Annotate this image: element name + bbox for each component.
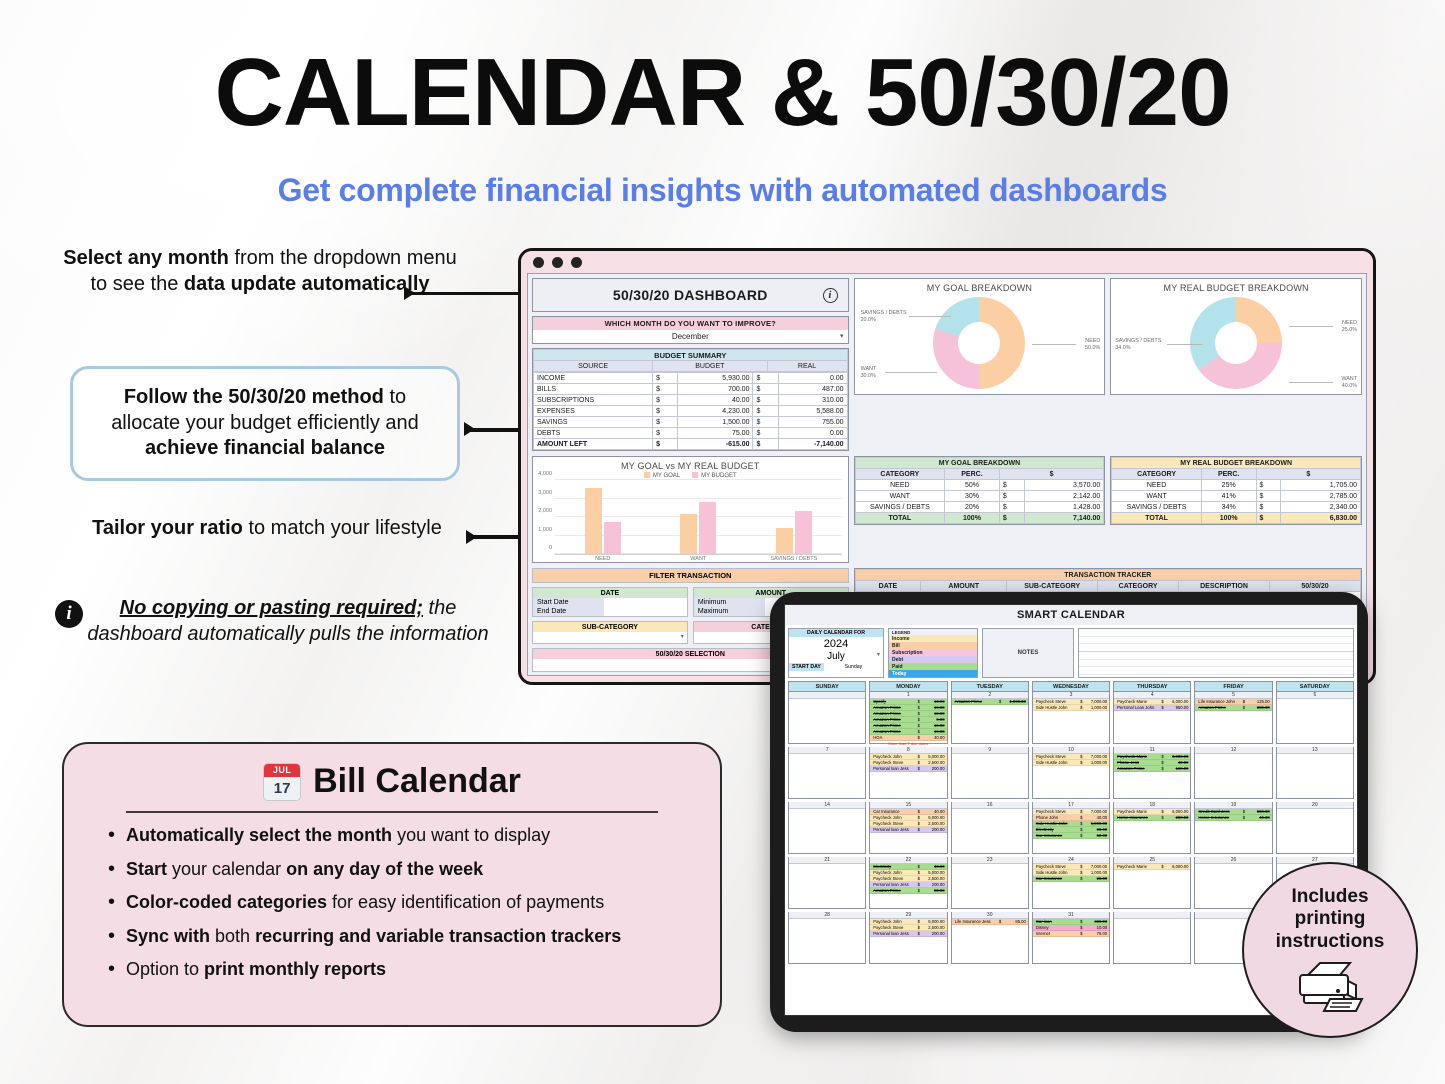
printing-instructions-badge: Includes printing instructions [1242, 862, 1418, 1038]
day-number: 6 [1277, 692, 1353, 699]
comparison-bar-chart-panel: MY GOAL vs MY REAL BUDGET MY GOAL MY BUD… [532, 456, 849, 563]
table-total-row: TOTAL100%$7,140.00 [855, 513, 1104, 524]
day-number: 10 [1033, 747, 1109, 754]
calendar-day-cell[interactable]: 2Amazon Prime$1,000.00 [951, 692, 1029, 744]
calendar-day-cell[interactable]: 15Car Insurance$40.00Paycheck John$5,000… [869, 802, 947, 854]
goal-donut-chart: SAVINGS / DEBTS 20.0% NEED 50.0% WANT 30… [855, 294, 1105, 394]
calendar-day-cell[interactable]: 22Electricity$40.00Paycheck John$5,000.0… [869, 857, 947, 909]
bar [699, 502, 716, 554]
real-label-savings-pct: 34.0% [1115, 345, 1161, 352]
list-item: Automatically select the month you want … [108, 825, 694, 847]
calendar-controls-strip: DAILY CALENDAR FOR 2024 July▾ START DAY … [788, 628, 1354, 678]
legend-item: Debt [889, 656, 977, 663]
calendar-day-cell[interactable]: 17Paycheck Steve$7,000.00Phone John$40.0… [1032, 802, 1110, 854]
day-number: 4 [1114, 692, 1190, 699]
callout-3-text: to match your lifestyle [243, 517, 442, 539]
day-header: MONDAY [869, 681, 947, 692]
bar-chart-title: MY GOAL vs MY REAL BUDGET [533, 457, 848, 472]
day-number: 18 [1114, 802, 1190, 809]
list-item: Start your calendar on any day of the we… [108, 859, 694, 881]
day-number: 31 [1033, 912, 1109, 919]
table-row: INCOME$5,930.00$0.00 [534, 373, 848, 384]
table-row: BILLS$700.00$487.00 [534, 384, 848, 395]
calendar-event[interactable]: Amazon Prime$1,000.00 [952, 699, 1028, 705]
day-number: 26 [1195, 857, 1271, 864]
day-header: WEDNESDAY [1032, 681, 1110, 692]
legend-item: Today [889, 670, 977, 677]
calendar-day-cell[interactable]: 10Paycheck Steve$7,000.00Side Hustle Joh… [1032, 747, 1110, 799]
leader-line-need [1032, 344, 1076, 345]
day-number: 12 [1195, 747, 1271, 754]
info-icon-dashboard[interactable]: i [823, 288, 838, 303]
start-day-value[interactable]: Sunday [824, 663, 883, 671]
leader-line-real-need [1289, 326, 1333, 327]
x-axis-label: WANT [661, 556, 736, 562]
table-row: SUBSCRIPTIONS$40.00$310.00 [534, 395, 848, 406]
day-number: 20 [1277, 802, 1353, 809]
filter-start-date-label: Start Date [533, 598, 604, 607]
callout-3-bold: Tailor your ratio [92, 517, 243, 539]
calendar-day-cell[interactable]: 23 [951, 857, 1029, 909]
table-row: WANT41%$2,785.00 [1112, 491, 1361, 502]
bill-calendar-bullets: Automatically select the month you want … [90, 825, 694, 981]
list-item: Option to print monthly reports [108, 959, 694, 981]
badge-line-1: Includes [1291, 886, 1368, 908]
notes-box[interactable]: NOTES [982, 628, 1074, 678]
filter-end-date-label: End Date [533, 607, 604, 616]
goal-donut [933, 297, 1025, 389]
callout-2-bold-a: Follow the 50/30/20 method [124, 386, 384, 408]
y-axis-tick: 3,000 [538, 490, 552, 496]
real-donut-chart: NEED 25.0% SAVINGS / DEBTS 34.0% WANT 40… [1111, 294, 1361, 394]
calendar-day-cell[interactable]: 29Paycheck John$5,000.00Paycheck Steve$2… [869, 912, 947, 964]
calendar-icon-day: 17 [264, 777, 300, 800]
budget-summary-panel: BUDGET SUMMARY SOURCEBUDGETREAL INCOME$5… [532, 348, 849, 451]
budget-summary-body: INCOME$5,930.00$0.00BILLS$700.00$487.00S… [533, 372, 848, 450]
calendar-event[interactable]: Life Insurance Jess$85.00 [952, 919, 1028, 925]
goal-label-need-pct: 50.0% [1085, 345, 1100, 352]
table-row: WANT30%$2,142.00 [855, 491, 1104, 502]
calendar-column: MONDAY1Spotify$10.00Amazon Prime$19.00Am… [869, 681, 947, 967]
calendar-day-cell[interactable]: 31Car loan$400.00Disney$10.00Internet$75… [1032, 912, 1110, 964]
month-value: December [672, 332, 709, 341]
goal-label-savings-pct: 20.0% [861, 317, 907, 324]
calendar-event[interactable]: Side Hustle John$1,000.00 [1033, 705, 1109, 711]
bar-chart-x-labels: NEEDWANTSAVINGS / DEBTS [555, 556, 842, 562]
table-row: NEED25%$1,705.00 [1112, 480, 1361, 491]
daily-calendar-selector[interactable]: DAILY CALENDAR FOR 2024 July▾ START DAY … [788, 628, 884, 678]
day-number: 14 [789, 802, 865, 809]
goal-label-need-text: NEED [1085, 338, 1100, 344]
window-titlebar [521, 251, 1373, 273]
day-number: 9 [952, 747, 1028, 754]
goal-label-want-text: WANT [861, 366, 877, 372]
calendar-column: THURSDAY4Paycheck Marie$6,000.00Personal… [1113, 681, 1191, 967]
start-day-label: START DAY [789, 663, 824, 671]
table-row: AMOUNT LEFT$-615.00$-7,140.00 [534, 439, 848, 450]
calendar-day-cell[interactable]: 9 [951, 747, 1029, 799]
table-row: SAVINGS / DEBTS20%$1,428.00 [855, 502, 1104, 513]
real-donut-panel: MY REAL BUDGET BREAKDOWN NEED 25.0% SAVI… [1110, 278, 1362, 395]
day-number: 28 [789, 912, 865, 919]
calendar-event[interactable]: Car Insurance$25.00 [1033, 876, 1109, 882]
budget-summary-table: BUDGET SUMMARY SOURCEBUDGETREAL [533, 349, 848, 372]
chevron-down-icon-month[interactable]: ▾ [877, 651, 880, 658]
goal-label-savings-text: SAVINGS / DEBTS [861, 310, 907, 316]
bar [604, 522, 621, 554]
calendar-event[interactable]: Amazon Prime$280.00 [1195, 705, 1271, 711]
calendar-day-cell[interactable]: 21 [788, 857, 866, 909]
day-number: 1 [870, 692, 946, 699]
legend-item: Bill [889, 642, 977, 649]
real-label-want-pct: 40.0% [1341, 383, 1357, 390]
day-number: 2 [952, 692, 1028, 699]
real-label-want: WANT 40.0% [1341, 376, 1357, 391]
goal-breakdown-table: MY GOAL BREAKDOWNCATEGORYPERC.$NEED50%$3… [855, 457, 1105, 524]
bar-chart-plot: 01,0002,0003,0004,000 [555, 481, 842, 555]
filter-date-label: DATE [533, 588, 687, 598]
legend-item-budget: MY BUDGET [692, 472, 737, 479]
day-header: FRIDAY [1194, 681, 1272, 692]
table-row: DEBTS$75.00$0.00 [534, 428, 848, 439]
real-breakdown-table: MY REAL BUDGET BREAKDOWNCATEGORYPERC.$NE… [1111, 457, 1361, 524]
callout-no-copy-paste: No copying or pasting required; the dash… [78, 596, 498, 647]
badge-line-3: instructions [1276, 931, 1385, 953]
calendar-icon: JUL 17 [263, 763, 301, 801]
table-row: NEED50%$3,570.00 [855, 480, 1104, 491]
chevron-down-icon[interactable]: ▾ [840, 332, 844, 340]
day-number: 3 [1033, 692, 1109, 699]
goal-donut-panel: MY GOAL BREAKDOWN SAVINGS / DEBTS 20.0% … [854, 278, 1106, 395]
calendar-day-cell[interactable]: 12 [1194, 747, 1272, 799]
calendar-day-cell[interactable]: 3Paycheck Steve$7,000.00Side Hustle John… [1032, 692, 1110, 744]
day-number [789, 692, 865, 699]
bar-group [661, 502, 736, 554]
page-title: CALENDAR & 50/30/20 [0, 38, 1445, 148]
calendar-event[interactable]: Internet$75.00 [1033, 931, 1109, 937]
calendar-icon-month: JUL [264, 764, 300, 777]
calendar-day-cell[interactable]: 30Life Insurance Jess$85.00 [951, 912, 1029, 964]
day-number: 11 [1114, 747, 1190, 754]
month-dropdown[interactable]: December ▾ [533, 330, 848, 343]
day-header: THURSDAY [1113, 681, 1191, 692]
real-label-need-text: NEED [1342, 320, 1357, 326]
calendar-column: TUESDAY2Amazon Prime$1,000.009162330Life… [951, 681, 1029, 967]
real-label-savings-text: SAVINGS / DEBTS [1115, 338, 1161, 344]
day-number: 17 [1033, 802, 1109, 809]
start-day-row[interactable]: START DAY Sunday [789, 663, 883, 671]
real-label-want-text: WANT [1341, 376, 1357, 382]
day-number: 7 [789, 747, 865, 754]
calendar-event[interactable]: Home Insurance$280.00 [1114, 815, 1190, 821]
budget-summary-title: BUDGET SUMMARY [534, 350, 848, 361]
day-number: 25 [1114, 857, 1190, 864]
filter-transaction-title: FILTER TRANSACTION [532, 568, 849, 583]
dashboard-title: 50/30/20 DASHBOARD i [532, 278, 849, 312]
day-number: 15 [870, 802, 946, 809]
notes-lines[interactable] [1078, 628, 1354, 678]
bar [795, 511, 812, 554]
bar-group [566, 488, 641, 554]
bill-calendar-card: JUL 17 Bill Calendar Automatically selec… [62, 742, 722, 1027]
calendar-day-cell[interactable]: 14 [788, 802, 866, 854]
day-number: 24 [1033, 857, 1109, 864]
gridline [555, 479, 842, 480]
calendar-day-cell[interactable] [1113, 912, 1191, 964]
legend-item: Paid [889, 663, 977, 670]
real-label-need: NEED 25.0% [1342, 320, 1357, 335]
year-value[interactable]: 2024 [789, 637, 883, 651]
calendar-day-cell[interactable] [788, 692, 866, 744]
bar-groups [555, 481, 842, 554]
table-row: SAVINGS$1,500.00$755.00 [534, 417, 848, 428]
calendar-event[interactable]: Personal loan Jess$200.00 [870, 931, 946, 937]
day-number: 16 [952, 802, 1028, 809]
day-number: 19 [1195, 802, 1271, 809]
calendar-day-cell[interactable]: 7 [788, 747, 866, 799]
calendar-day-cell[interactable]: 4Paycheck Marie$6,000.00Personal Loan Jo… [1113, 692, 1191, 744]
bar [776, 528, 793, 554]
divider [126, 811, 658, 813]
list-item: Sync with both recurring and variable tr… [108, 926, 694, 948]
arrow-1-head [404, 286, 415, 300]
filter-end-date-row[interactable]: End Date [533, 607, 687, 616]
day-number: 21 [789, 857, 865, 864]
y-axis-tick: 4,000 [538, 471, 552, 477]
goal-label-need: NEED 50.0% [1085, 338, 1100, 353]
calendar-day-cell[interactable]: 19Credit Card Jess$550.00Home Insurance$… [1194, 802, 1272, 854]
real-label-need-pct: 25.0% [1342, 327, 1357, 334]
window-minimize-dot[interactable] [552, 257, 563, 268]
filter-max-label: Maximum [694, 607, 765, 616]
day-number: 5 [1195, 692, 1271, 699]
filter-start-date-row[interactable]: Start Date [533, 598, 687, 607]
table-total-row: TOTAL100%$6,830.00 [1112, 513, 1361, 524]
real-label-savings: SAVINGS / DEBTS 34.0% [1115, 338, 1161, 353]
bill-calendar-header: JUL 17 Bill Calendar [90, 762, 694, 801]
daily-calendar-for-label: DAILY CALENDAR FOR [789, 629, 883, 637]
window-maximize-dot[interactable] [571, 257, 582, 268]
y-axis-tick: 1,000 [538, 527, 552, 533]
page-subtitle: Get complete financial insights with aut… [0, 172, 1445, 209]
legend-item: Subscription [889, 649, 977, 656]
x-axis-label: NEED [566, 556, 641, 562]
list-item: Color-coded categories for easy identifi… [108, 892, 694, 914]
day-number [1114, 912, 1190, 919]
callout-503020-method: Follow the 50/30/20 method to allocate y… [70, 366, 460, 481]
y-axis-tick: 2,000 [538, 508, 552, 514]
calendar-day-cell[interactable]: 28 [788, 912, 866, 964]
bar-chart-legend: MY GOAL MY BUDGET [533, 472, 848, 479]
y-axis-tick: 0 [549, 545, 552, 551]
calendar-day-cell[interactable]: 20 [1276, 802, 1354, 854]
bar [585, 488, 602, 554]
goal-breakdown-table-panel: MY GOAL BREAKDOWNCATEGORYPERC.$NEED50%$3… [854, 456, 1106, 525]
bill-calendar-title: Bill Calendar [313, 762, 521, 801]
calendar-event[interactable]: Car Insurance$50.00 [1033, 833, 1109, 839]
leader-line-real-want [1289, 382, 1333, 383]
calendar-event[interactable]: Side Hustle John$1,000.00 [1033, 760, 1109, 766]
day-header: TUESDAY [951, 681, 1029, 692]
goal-donut-title: MY GOAL BREAKDOWN [855, 279, 1105, 294]
bar [680, 514, 697, 554]
calendar-column: WEDNESDAY3Paycheck Steve$7,000.00Side Hu… [1032, 681, 1110, 967]
calendar-day-cell[interactable]: 16 [951, 802, 1029, 854]
month-selector[interactable]: WHICH MONTH DO YOU WANT TO IMPROVE? Dece… [532, 316, 849, 344]
callout-1-bold-a: Select any month [63, 247, 229, 269]
table-row: EXPENSES$4,230.00$5,588.00 [534, 406, 848, 417]
calendar-day-cell[interactable]: 1Spotify$10.00Amazon Prime$19.00Amazon P… [869, 692, 947, 744]
callout-1-bold-b: data update automatically [184, 273, 430, 295]
calendar-day-cell[interactable]: 6 [1276, 692, 1354, 744]
calendar-day-cell[interactable]: 18Paycheck Marie$6,000.00Home Insurance$… [1113, 802, 1191, 854]
goal-label-savings: SAVINGS / DEBTS 20.0% [861, 310, 907, 325]
calendar-event[interactable]: Amazon Prime$80.00 [870, 888, 946, 894]
filter-subcategory-label: SUB-CATEGORY [533, 622, 687, 632]
filter-date-box: DATE Start Date End Date [532, 587, 688, 617]
calendar-legend: LEGENDIncomeBillSubscriptionDebtPaidToda… [888, 628, 978, 678]
month-value-tablet[interactable]: July▾ [789, 651, 883, 663]
calendar-day-cell[interactable]: 8Paycheck John$5,000.00Paycheck Steve$2,… [869, 747, 947, 799]
chevron-down-icon-subcat[interactable]: ▾ [681, 633, 684, 640]
calendar-event[interactable]: Personal Loan John$950.00 [1114, 705, 1190, 711]
goal-label-want: WANT 30.0% [861, 366, 877, 381]
day-number: 30 [952, 912, 1028, 919]
badge-line-2: printing [1295, 908, 1366, 930]
calendar-event[interactable]: Paycheck Marie$6,000.00 [1114, 864, 1190, 870]
bar-group [757, 511, 832, 554]
day-number: 22 [870, 857, 946, 864]
calendar-column: SUNDAY7142128 [788, 681, 866, 967]
real-breakdown-table-panel: MY REAL BUDGET BREAKDOWNCATEGORYPERC.$NE… [1110, 456, 1362, 525]
calendar-event[interactable]: Personal loan Jess$200.00 [870, 766, 946, 772]
calendar-day-cell[interactable]: 5Life Insurance John$125.00Amazon Prime$… [1194, 692, 1272, 744]
goal-label-want-pct: 30.0% [861, 373, 877, 380]
filter-start-date-input[interactable] [604, 598, 687, 607]
callout-select-month: Select any month from the dropdown menu … [60, 246, 460, 297]
filter-end-date-input[interactable] [604, 607, 687, 616]
window-close-dot[interactable] [533, 257, 544, 268]
calendar-event[interactable]: Amazon Prime$100.00 [1114, 766, 1190, 772]
callout-4-lead: No copying or pasting required; [120, 597, 423, 619]
day-header: SUNDAY [788, 681, 866, 692]
legend-item-goal: MY GOAL [644, 472, 680, 479]
filter-subcategory-box[interactable]: SUB-CATEGORY ▾ [532, 621, 688, 644]
day-number: 8 [870, 747, 946, 754]
calendar-day-cell[interactable]: 25Paycheck Marie$6,000.00 [1113, 857, 1191, 909]
real-donut-title: MY REAL BUDGET BREAKDOWN [1111, 279, 1361, 294]
calendar-day-cell[interactable]: 13 [1276, 747, 1354, 799]
legend-item: Income [889, 635, 977, 642]
calendar-day-cell[interactable]: 24Paycheck Steve$7,000.00Side Hustle Joh… [1032, 857, 1110, 909]
day-number: 23 [952, 857, 1028, 864]
arrow-1-line [408, 292, 520, 295]
budget-summary-header-row: SOURCEBUDGETREAL [534, 361, 848, 372]
table-row: SAVINGS / DEBTS34%$2,340.00 [1112, 502, 1361, 513]
x-axis-label: SAVINGS / DEBTS [757, 556, 832, 562]
callout-2-bold-b: achieve financial balance [145, 437, 385, 459]
leader-line-want [885, 372, 937, 373]
filter-min-label: Minimum [694, 598, 765, 607]
month-text: July [827, 651, 845, 662]
filter-subcategory-dropdown[interactable]: ▾ [533, 632, 687, 643]
calendar-day-cell[interactable]: 11Paycheck Marie$6,000.00Phone Jess$40.0… [1113, 747, 1191, 799]
day-number: 13 [1277, 747, 1353, 754]
dashboard-title-text: 50/30/20 DASHBOARD [613, 287, 768, 303]
callout-tailor-ratio: Tailor your ratio to match your lifestyl… [72, 516, 462, 542]
calendar-event[interactable]: Home Insurance$40.00 [1195, 815, 1271, 821]
day-header: SATURDAY [1276, 681, 1354, 692]
printer-icon [1290, 955, 1370, 1013]
calendar-event[interactable]: Personal loan Jess$200.00 [870, 827, 946, 833]
month-prompt: WHICH MONTH DO YOU WANT TO IMPROVE? [533, 317, 848, 330]
smart-calendar-title: SMART CALENDAR [785, 605, 1357, 625]
leader-line-savings [909, 316, 951, 317]
due-dates-warning: More than 7 due dates [870, 741, 946, 746]
leader-line-real-savings [1167, 344, 1203, 345]
real-donut [1190, 297, 1282, 389]
day-number: 29 [870, 912, 946, 919]
